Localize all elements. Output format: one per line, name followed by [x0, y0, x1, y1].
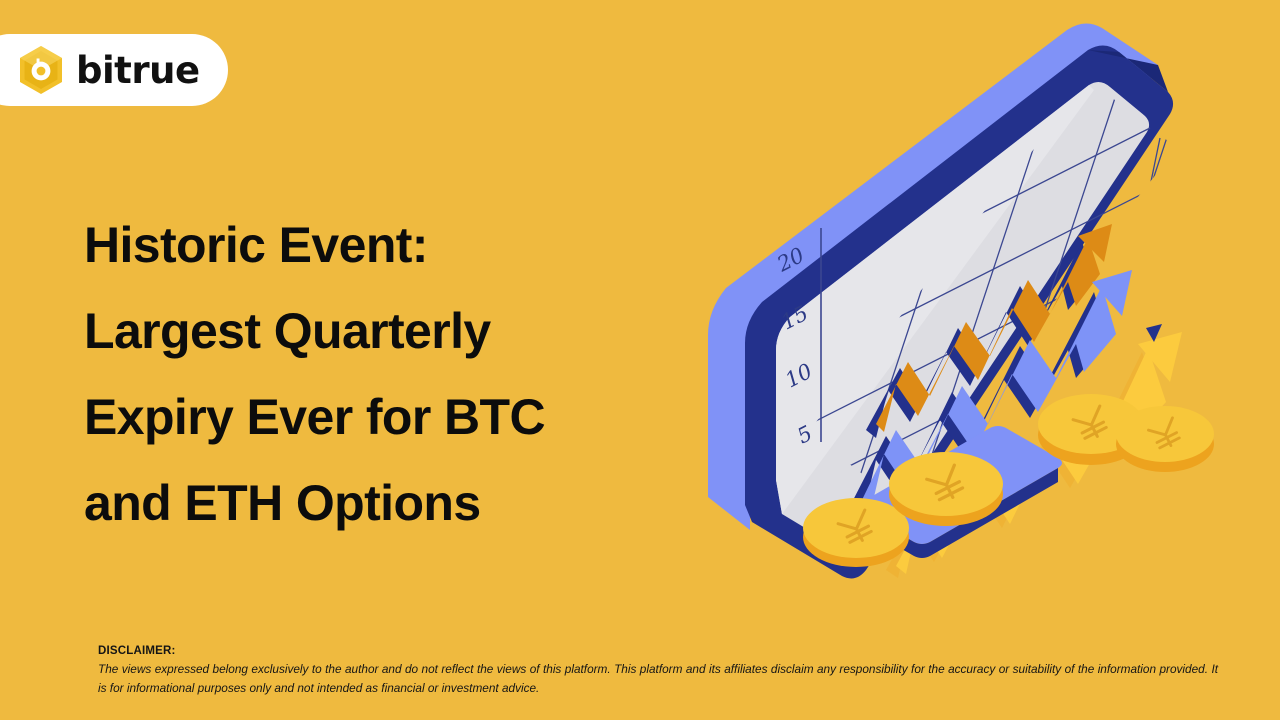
disclaimer-body: The views expressed belong exclusively t…	[98, 660, 1218, 698]
headline-line-4: and ETH Options	[84, 460, 684, 546]
isometric-tablet-chart-svg: 20 15 10 5	[690, 10, 1200, 580]
poster-canvas: bitrue Historic Event: Largest Quarterly…	[0, 0, 1280, 720]
page-title: Historic Event: Largest Quarterly Expiry…	[84, 202, 684, 546]
hero-illustration: 20 15 10 5	[690, 10, 1200, 580]
gold-coin	[889, 452, 1003, 526]
headline-line-3: Expiry Ever for BTC	[84, 374, 684, 460]
headline-line-2: Largest Quarterly	[84, 288, 684, 374]
brand-logo[interactable]: bitrue	[0, 34, 228, 106]
bitrue-hexagon-b-icon	[18, 45, 64, 95]
disclaimer-block: DISCLAIMER: The views expressed belong e…	[98, 645, 1218, 698]
headline-line-1: Historic Event:	[84, 202, 684, 288]
gold-coin	[803, 498, 909, 567]
gold-coin	[1116, 406, 1214, 472]
brand-wordmark: bitrue	[76, 52, 200, 89]
disclaimer-title: DISCLAIMER:	[98, 645, 1218, 657]
